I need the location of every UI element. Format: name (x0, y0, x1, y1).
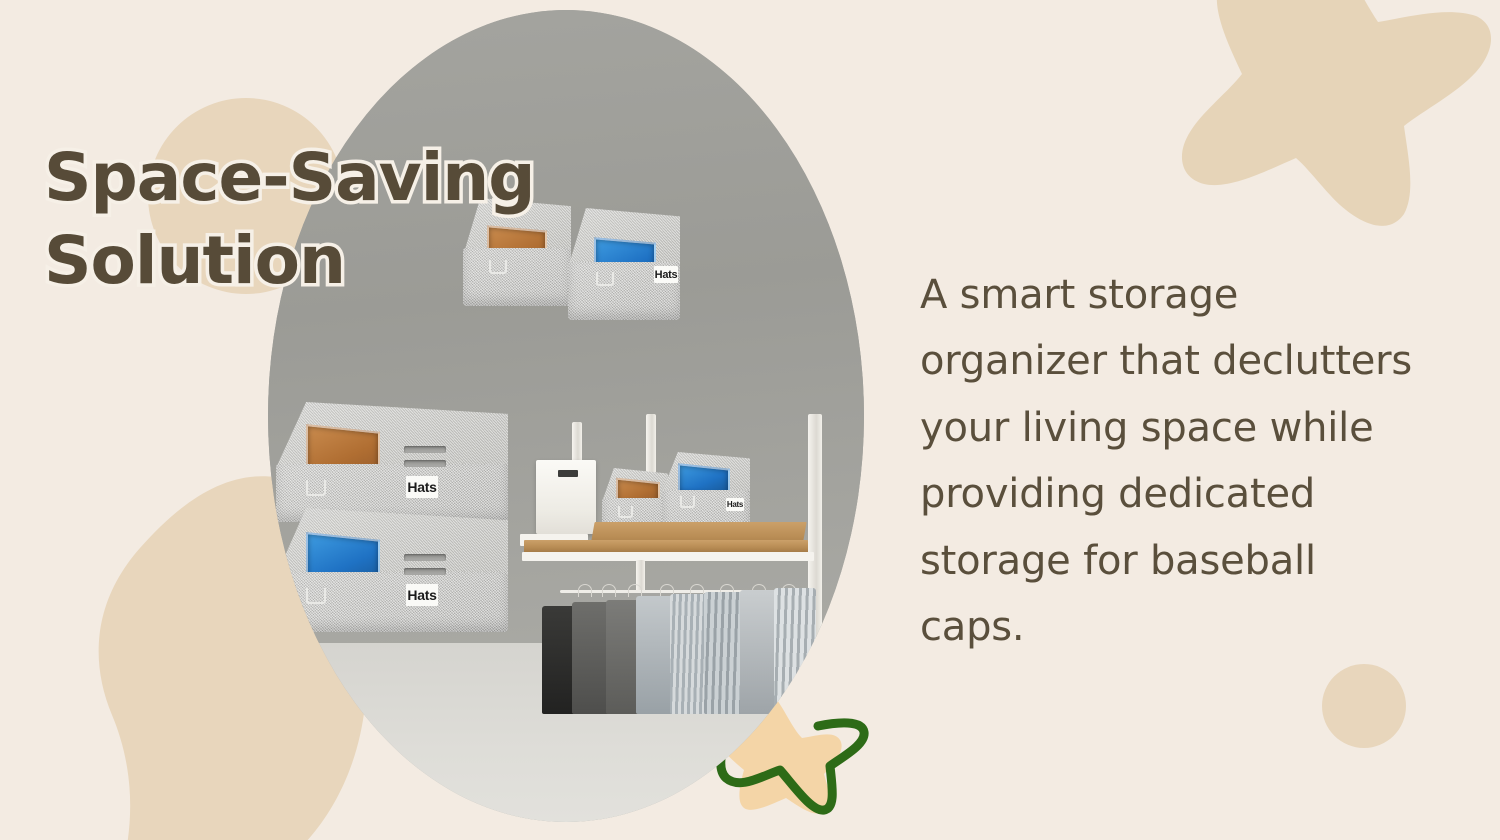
bin-stack-lower: Hats (276, 508, 508, 632)
bin-label-hats: Hats (406, 476, 438, 498)
hanger (578, 584, 592, 597)
circle-bottom-right-decor (1322, 664, 1406, 748)
bin-handle (618, 506, 633, 518)
hanger (602, 584, 616, 597)
bin-handle (306, 588, 326, 604)
bin-handle (306, 480, 326, 496)
slide-canvas: Hats Hats Hats (0, 0, 1500, 840)
bin-slot (404, 554, 446, 561)
photo-scene: Hats Hats Hats (268, 10, 864, 822)
bin-label-hats: Hats (654, 266, 678, 283)
bin-handle (680, 496, 695, 508)
hanging-garment (542, 606, 576, 714)
page-title: Space-Saving Solution (44, 136, 644, 302)
hanging-garment (774, 588, 816, 714)
bin-slot (404, 446, 446, 453)
bin-label-hats: Hats (726, 498, 744, 511)
bin-slot (404, 460, 446, 467)
bin-slot (404, 568, 446, 575)
white-box-tag (558, 470, 578, 477)
bin-stack-upper: Hats (276, 402, 508, 522)
closet-white-box (536, 460, 596, 534)
hanging-garment (572, 602, 610, 714)
product-photo: Hats Hats Hats (268, 10, 864, 822)
shelf-white-underside (522, 552, 814, 561)
closet-scene: Hats (520, 414, 864, 714)
description-text: A smart storage organizer that declutter… (920, 262, 1430, 660)
star-top-right-decor (1146, 0, 1500, 234)
bin-label-hats: Hats (406, 584, 438, 606)
